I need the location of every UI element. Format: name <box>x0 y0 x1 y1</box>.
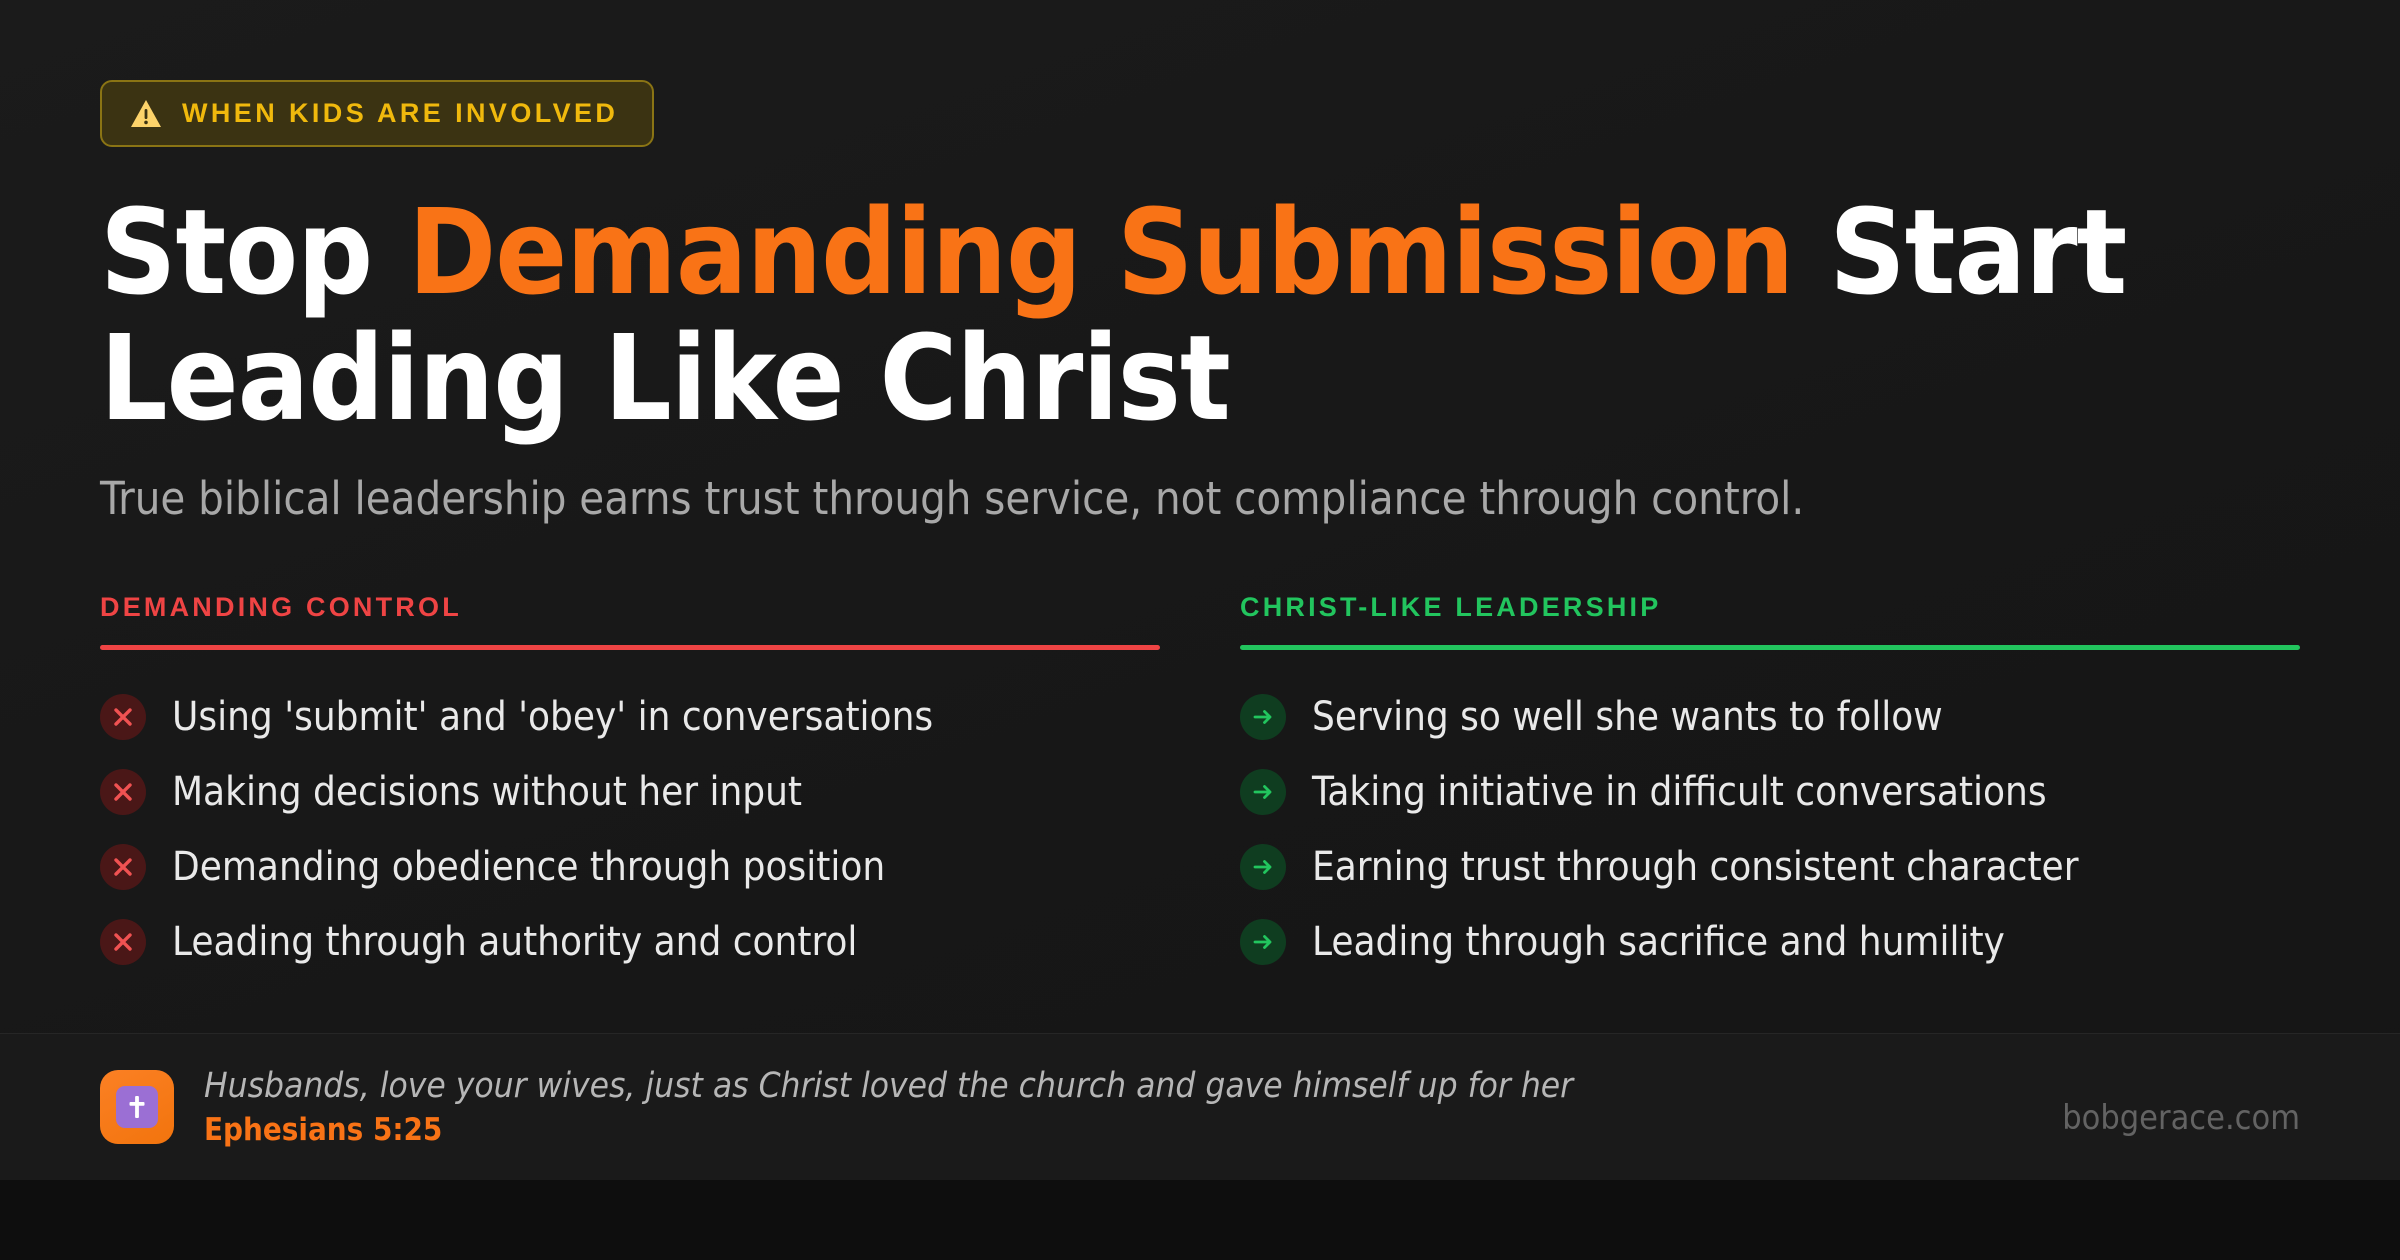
column-rule-demanding-control <box>100 645 1160 650</box>
list-item: Serving so well she wants to follow <box>1240 680 2300 755</box>
x-mark-icon <box>100 694 146 740</box>
column-title-demanding-control: DEMANDING CONTROL <box>100 592 1160 645</box>
warning-triangle-icon <box>130 99 162 129</box>
column-christ-like-leadership: CHRIST-LIKE LEADERSHIP Serving so well s… <box>1240 592 2300 980</box>
footer-bar: Husbands, love your wives, just as Chris… <box>0 1033 2400 1180</box>
list-item: Leading through authority and control <box>100 905 1160 980</box>
bottom-strip <box>0 1180 2400 1260</box>
arrow-right-icon <box>1240 844 1286 890</box>
topic-badge: WHEN KIDS ARE INVOLVED <box>100 80 654 147</box>
x-mark-icon <box>100 769 146 815</box>
footer-text-group: Husbands, love your wives, just as Chris… <box>204 1066 1573 1148</box>
list-item: Making decisions without her input <box>100 755 1160 830</box>
arrow-right-icon <box>1240 694 1286 740</box>
site-watermark: bobgerace.com <box>2062 1076 2300 1138</box>
scripture-quote: Husbands, love your wives, just as Chris… <box>204 1066 1573 1106</box>
cross-icon <box>100 1070 174 1144</box>
list-item-label: Taking initiative in difficult conversat… <box>1312 769 2047 815</box>
x-mark-icon <box>100 844 146 890</box>
list-item-label: Leading through authority and control <box>172 919 857 965</box>
list-item-label: Leading through sacrifice and humility <box>1312 919 2005 965</box>
comparison-columns: DEMANDING CONTROL Using 'submit' and 'ob… <box>100 592 2300 980</box>
list-item: Leading through sacrifice and humility <box>1240 905 2300 980</box>
slide-root: WHEN KIDS ARE INVOLVED Stop Demanding Su… <box>0 0 2400 1260</box>
x-mark-icon <box>100 919 146 965</box>
list-christ-like-leadership: Serving so well she wants to follow Taki… <box>1240 680 2300 980</box>
column-title-christ-like-leadership: CHRIST-LIKE LEADERSHIP <box>1240 592 2300 645</box>
column-demanding-control: DEMANDING CONTROL Using 'submit' and 'ob… <box>100 592 1160 980</box>
cross-icon-inner <box>116 1086 158 1128</box>
list-item: Using 'submit' and 'obey' in conversatio… <box>100 680 1160 755</box>
list-item-label: Demanding obedience through position <box>172 844 885 890</box>
list-demanding-control: Using 'submit' and 'obey' in conversatio… <box>100 680 1160 980</box>
list-item: Demanding obedience through position <box>100 830 1160 905</box>
list-item: Taking initiative in difficult conversat… <box>1240 755 2300 830</box>
arrow-right-icon <box>1240 919 1286 965</box>
headline-part-1: Stop <box>100 183 408 321</box>
headline-accent: Demanding Submission <box>408 183 1793 321</box>
list-item-label: Using 'submit' and 'obey' in conversatio… <box>172 694 933 740</box>
topic-badge-label: WHEN KIDS ARE INVOLVED <box>182 98 618 129</box>
list-item: Earning trust through consistent charact… <box>1240 830 2300 905</box>
arrow-right-icon <box>1240 769 1286 815</box>
list-item-label: Serving so well she wants to follow <box>1312 694 1943 740</box>
scripture-reference: Ephesians 5:25 <box>204 1112 1573 1148</box>
list-item-label: Making decisions without her input <box>172 769 802 815</box>
footer-scripture: Husbands, love your wives, just as Chris… <box>100 1066 1573 1148</box>
column-rule-christ-like-leadership <box>1240 645 2300 650</box>
list-item-label: Earning trust through consistent charact… <box>1312 844 2078 890</box>
page-title: Stop Demanding Submission Start Leading … <box>100 189 2300 442</box>
page-subtitle: True biblical leadership earns trust thr… <box>100 472 2300 526</box>
slide-body: WHEN KIDS ARE INVOLVED Stop Demanding Su… <box>0 0 2400 980</box>
